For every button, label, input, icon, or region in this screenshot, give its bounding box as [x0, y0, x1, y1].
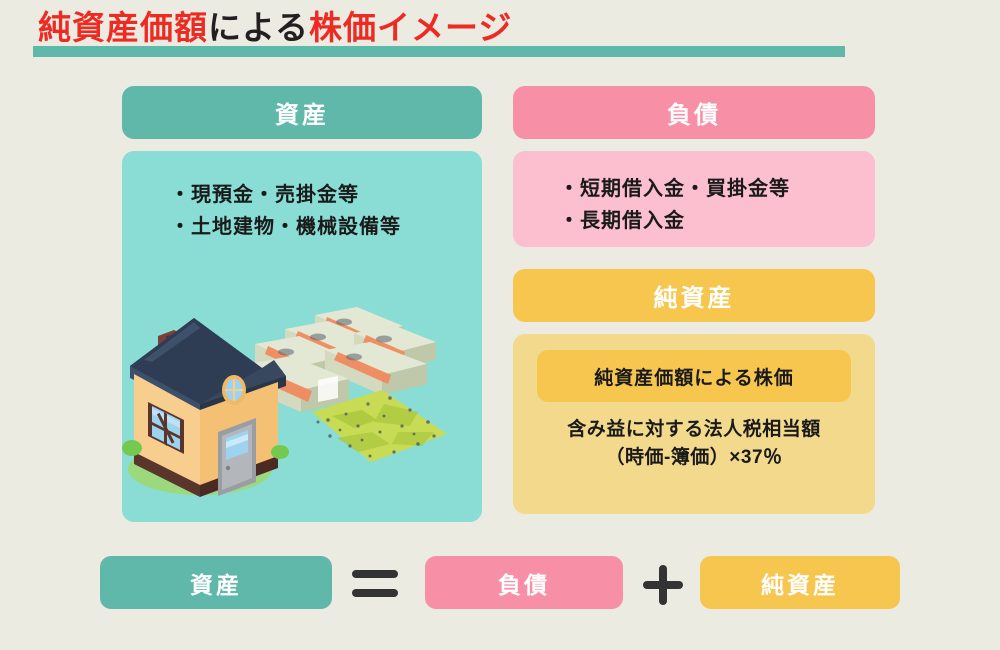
- page-title-segment-1: 純資産価額: [38, 9, 208, 46]
- corporate-tax-note-line-1: 含み益に対する法人税相当額: [513, 416, 875, 444]
- equation-assets-label: 資産: [190, 566, 242, 600]
- equation-assets-box: 資産: [100, 556, 332, 609]
- net-asset-stock-price-label: 純資産価額による株価: [594, 363, 793, 390]
- equation-net-assets-box: 純資産: [700, 556, 900, 609]
- assets-bullet-1: ・現預金・売掛金等: [170, 179, 482, 211]
- assets-header-label: 資産: [275, 95, 329, 130]
- page-title-segment-3: 株価イメージ: [309, 9, 512, 46]
- liabilities-header: 負債: [513, 86, 875, 139]
- net-assets-header: 純資産: [513, 269, 875, 322]
- equation-liabilities-box: 負債: [425, 556, 623, 609]
- net-assets-header-label: 純資産: [654, 278, 735, 313]
- liabilities-bullet-2: ・長期借入金: [559, 205, 875, 237]
- page-title: 純資産価額による株価イメージ: [38, 8, 512, 48]
- liabilities-bullet-list: ・短期借入金・買掛金等 ・長期借入金: [513, 173, 875, 237]
- equation-net-assets-label: 純資産: [761, 566, 839, 600]
- balance-sheet-diagram: 資産 ・現預金・売掛金等 ・土地建物・機械設備等: [0, 70, 1000, 540]
- liabilities-bullet-1: ・短期借入金・買掛金等: [559, 173, 875, 205]
- liabilities-body-panel: ・短期借入金・買掛金等 ・長期借入金: [513, 151, 875, 247]
- net-assets-body-panel: 純資産価額による株価 含み益に対する法人税相当額 （時価‐簿価）×37％: [513, 334, 875, 514]
- equation-liabilities-label: 負債: [498, 566, 550, 600]
- plus-sign-icon: [643, 565, 683, 605]
- assets-bullet-list: ・現預金・売掛金等 ・土地建物・機械設備等: [122, 151, 482, 243]
- assets-illustration: [122, 286, 482, 516]
- balance-sheet-equation: 資産 負債 純資産: [0, 556, 1000, 616]
- liabilities-header-label: 負債: [667, 95, 721, 130]
- assets-body-panel: ・現預金・売掛金等 ・土地建物・機械設備等: [122, 151, 482, 522]
- assets-header: 資産: [122, 86, 482, 139]
- corporate-tax-note: 含み益に対する法人税相当額 （時価‐簿価）×37％: [513, 416, 875, 472]
- equals-sign-icon: [352, 570, 398, 598]
- assets-column: 資産 ・現預金・売掛金等 ・土地建物・機械設備等: [122, 86, 482, 522]
- net-asset-stock-price-chip: 純資産価額による株価: [537, 350, 851, 402]
- liabilities-net-assets-column: 負債 ・短期借入金・買掛金等 ・長期借入金 純資産 純資産価額による株価 含み益…: [513, 86, 875, 514]
- corporate-tax-note-line-2: （時価‐簿価）×37％: [513, 444, 875, 472]
- assets-bullet-2: ・土地建物・機械設備等: [170, 211, 482, 243]
- title-area: 純資産価額による株価イメージ: [0, 0, 1000, 70]
- page-title-segment-2: による: [208, 9, 309, 46]
